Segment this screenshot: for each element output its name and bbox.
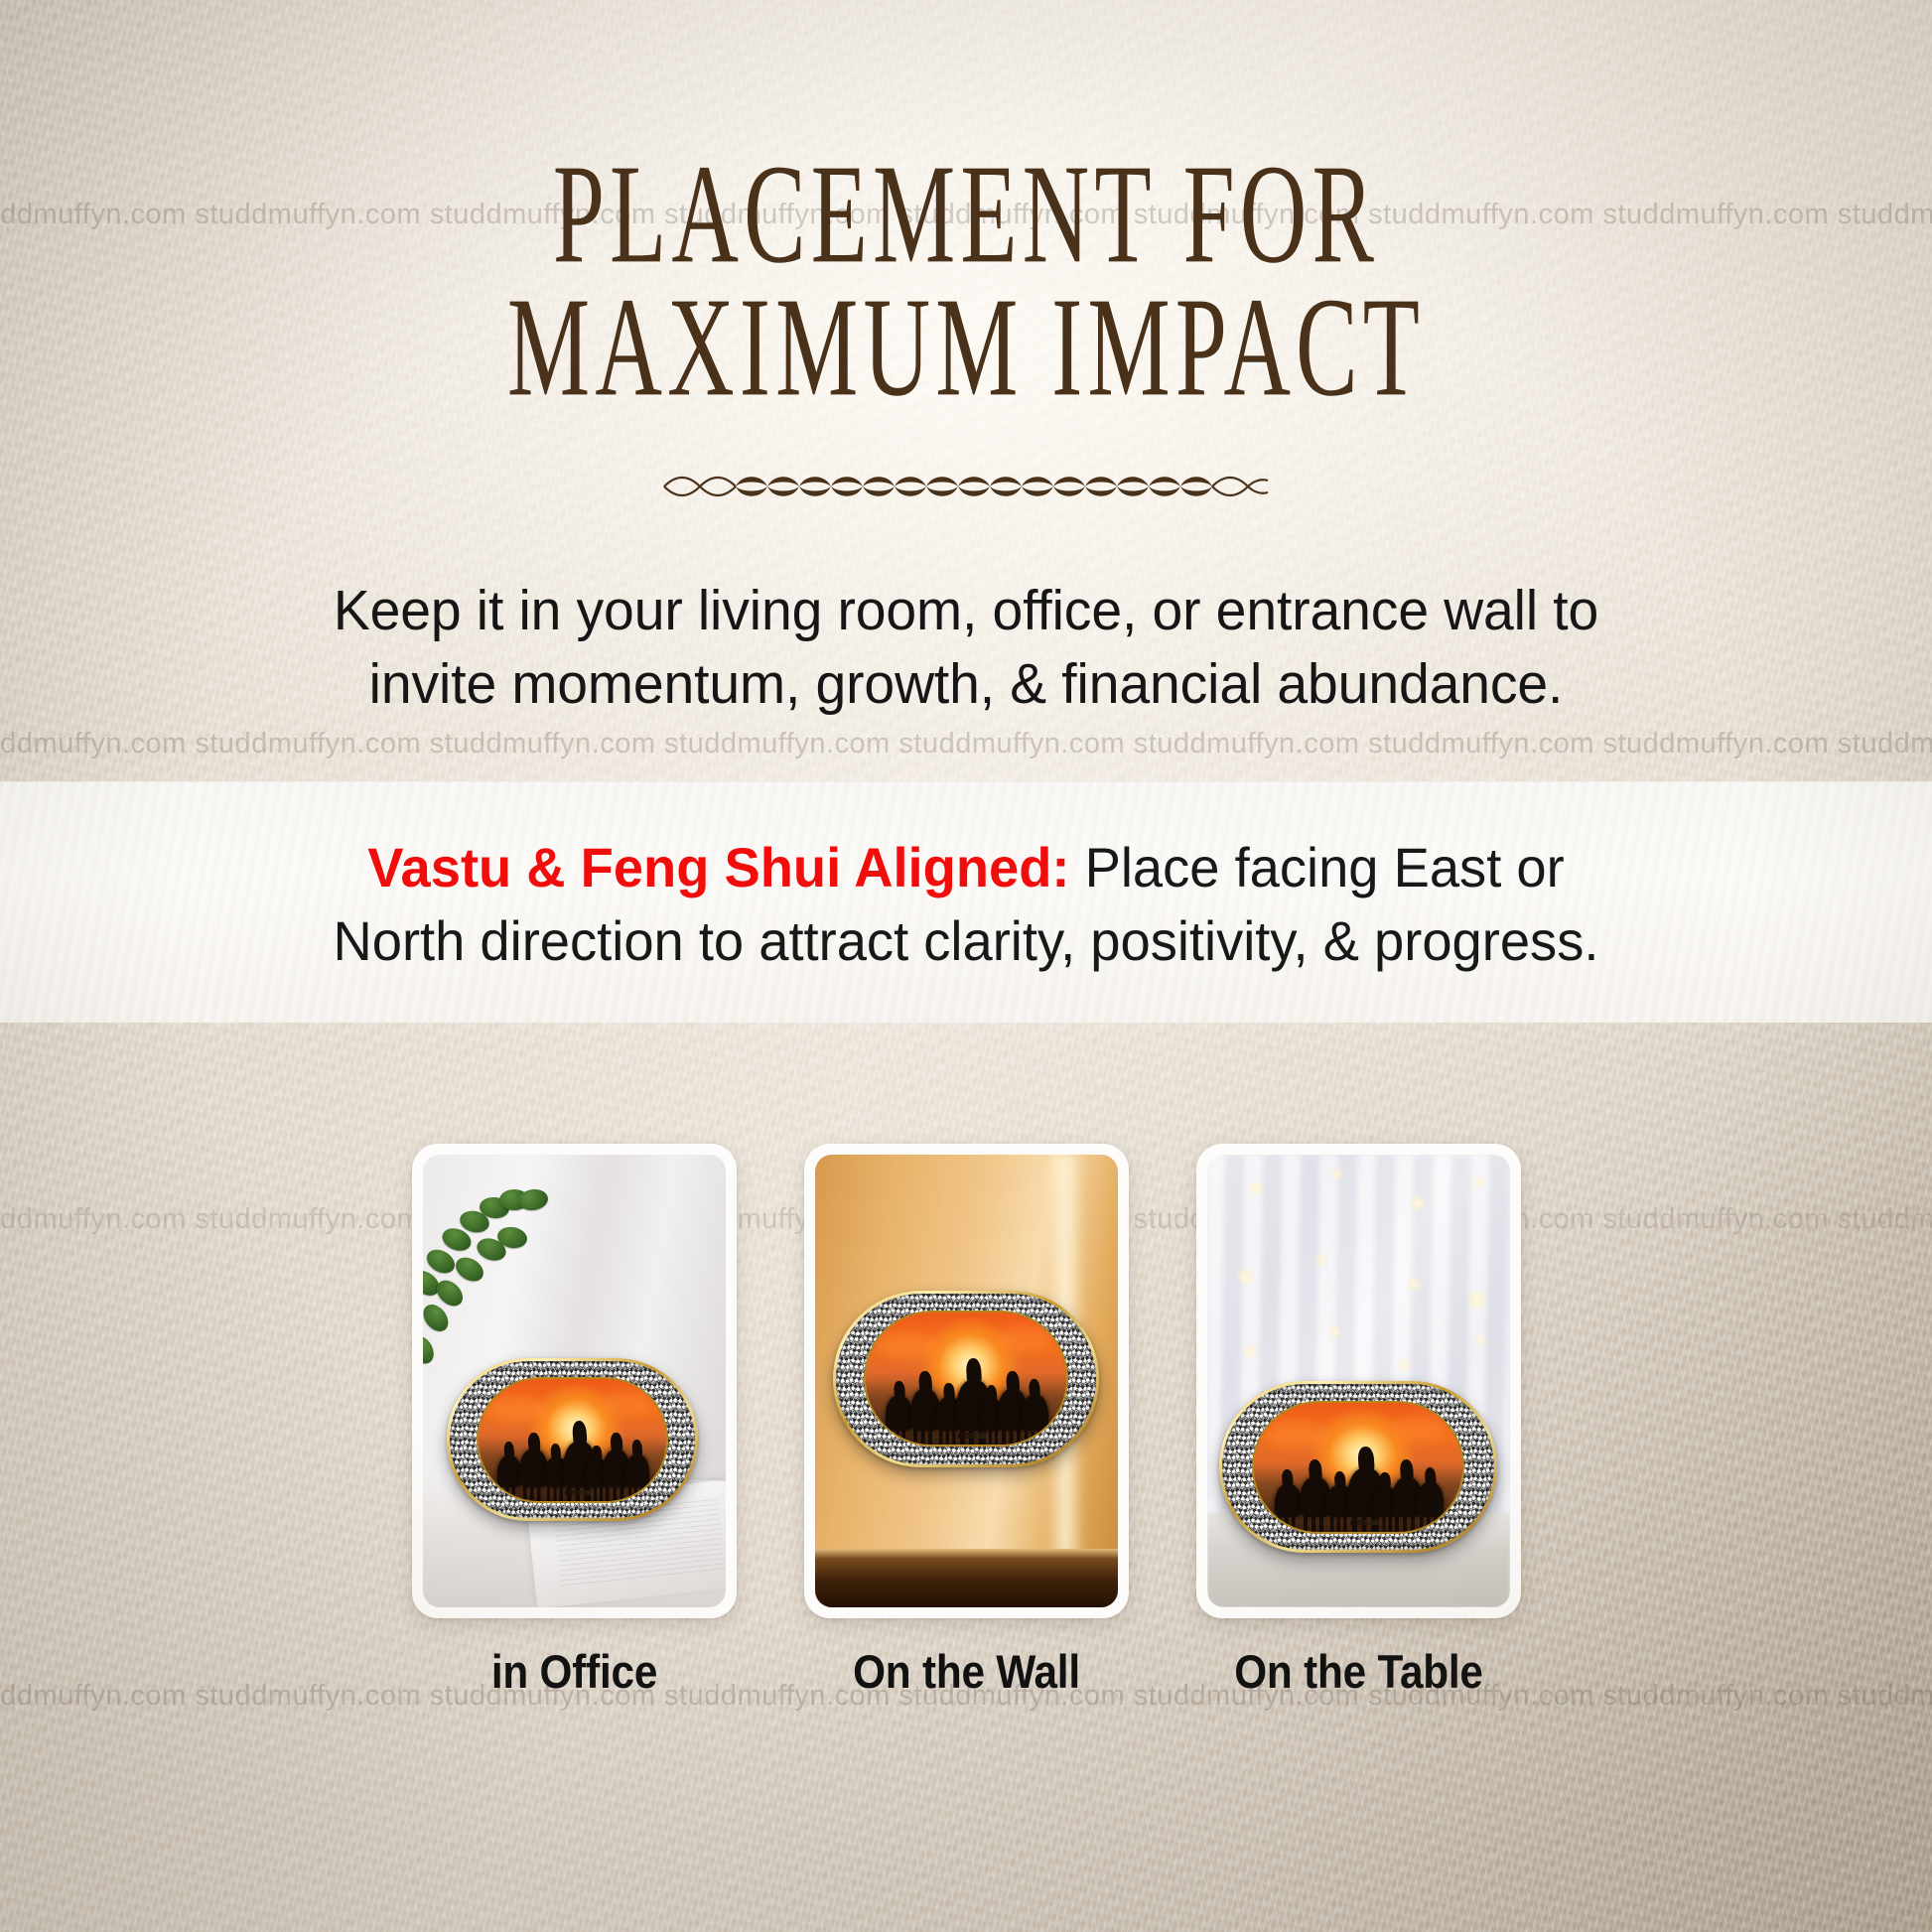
poster-canvas: studdmuffyn.com studdmuffyn.com studdmuf… [0,0,1932,1932]
brand-tag [565,1490,592,1495]
intro-line-1: Keep it in your living room, office, or … [145,574,1788,647]
card-label-in-office: in Office [428,1644,720,1699]
title-line-1: PLACEMENT FOR [44,147,1888,283]
brand-tag [1350,1520,1379,1525]
photo-office-desk [423,1155,726,1607]
gallery-card-in-office[interactable] [412,1144,737,1618]
brand-tag [958,1433,986,1438]
horses-artwork [866,1312,1065,1445]
vastu-accent-label: Vastu & Feng Shui Aligned: [367,836,1069,898]
horses-artwork [479,1379,667,1501]
horses-artwork [1254,1403,1462,1532]
bokeh-light [1473,1177,1484,1188]
title-line-2: MAXIMUM IMPACT [44,280,1888,416]
photo-amber-wall [815,1155,1118,1607]
page-title: PLACEMENT FOR MAXIMUM IMPACT [0,147,1932,373]
bokeh-light [1410,1195,1426,1211]
band-copy: Vastu & Feng Shui Aligned: Place facing … [135,831,1797,979]
card-label-on-the-table: On the Table [1212,1644,1504,1699]
gallery-card-on-the-wall[interactable] [804,1144,1129,1618]
product-plaque [1219,1381,1498,1553]
ornament-divider-icon [658,467,1274,511]
band-line-2: North direction to attract clarity, posi… [135,904,1797,978]
plant-icon [423,1164,568,1363]
bokeh-light [1331,1169,1343,1180]
photo-table-bokeh [1207,1155,1510,1607]
watermark-row: studdmuffyn.com studdmuffyn.com studdmuf… [0,728,1932,760]
bokeh-light [1237,1268,1254,1285]
gallery-card-on-the-table[interactable] [1196,1144,1521,1618]
bokeh-light [1243,1345,1257,1359]
bokeh-light [1407,1277,1422,1292]
bokeh-light [1328,1326,1340,1338]
intro-copy: Keep it in your living room, office, or … [145,574,1788,721]
bokeh-light [1467,1291,1486,1310]
highlight-band: Vastu & Feng Shui Aligned: Place facing … [0,781,1932,1023]
wall-shelf [815,1549,1118,1607]
intro-line-2: invite momentum, growth, & financial abu… [145,647,1788,721]
gallery-cards [0,1144,1932,1618]
product-plaque [833,1291,1099,1467]
bokeh-light [1398,1358,1411,1371]
band-line-1-rest: Place facing East or [1070,836,1565,898]
band-line-1: Vastu & Feng Shui Aligned: Place facing … [135,831,1797,904]
product-plaque [447,1358,698,1521]
card-label-on-the-wall: On the Wall [820,1644,1112,1699]
gallery-labels: in Office On the Wall On the Table [0,1644,1932,1699]
